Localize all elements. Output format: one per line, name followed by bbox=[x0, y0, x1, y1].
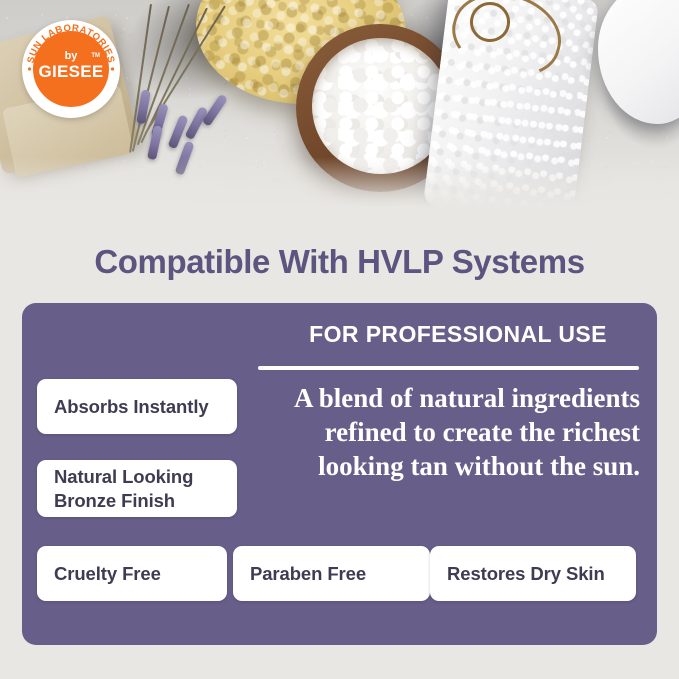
panel-divider bbox=[258, 366, 639, 370]
brand-logo-badge: SUN LABORATORIES NATURAL BEAUTY by TM GI… bbox=[22, 20, 120, 118]
feature-pill-label: Absorbs Instantly bbox=[54, 395, 209, 419]
logo-trademark: TM bbox=[91, 53, 100, 59]
feature-pill-restores-dry-skin: Restores Dry Skin bbox=[430, 546, 636, 601]
feature-pill-label: Restores Dry Skin bbox=[447, 562, 605, 586]
feature-pill-absorbs-instantly: Absorbs Instantly bbox=[37, 379, 237, 434]
page-title: Compatible With HVLP Systems bbox=[0, 243, 679, 281]
feature-pill-label: Cruelty Free bbox=[54, 562, 161, 586]
feature-pill-natural-looking-bronze-finish: Natural Looking Bronze Finish bbox=[37, 460, 237, 517]
feature-pill-cruelty-free: Cruelty Free bbox=[37, 546, 227, 601]
product-feature-graphic: SUN LABORATORIES NATURAL BEAUTY by TM GI… bbox=[0, 0, 679, 679]
panel-heading: FOR PROFESSIONAL USE bbox=[280, 321, 636, 348]
logo-brand-name: GIESEE bbox=[22, 62, 120, 82]
feature-pill-paraben-free: Paraben Free bbox=[233, 546, 430, 601]
photo-fade bbox=[0, 157, 679, 215]
panel-description: A blend of natural ingredients refined t… bbox=[262, 381, 640, 483]
feature-pill-label: Natural Looking Bronze Finish bbox=[54, 465, 225, 513]
feature-pill-label: Paraben Free bbox=[250, 562, 366, 586]
features-panel: FOR PROFESSIONAL USE A blend of natural … bbox=[22, 303, 657, 645]
logo-by-label: by bbox=[22, 50, 120, 62]
